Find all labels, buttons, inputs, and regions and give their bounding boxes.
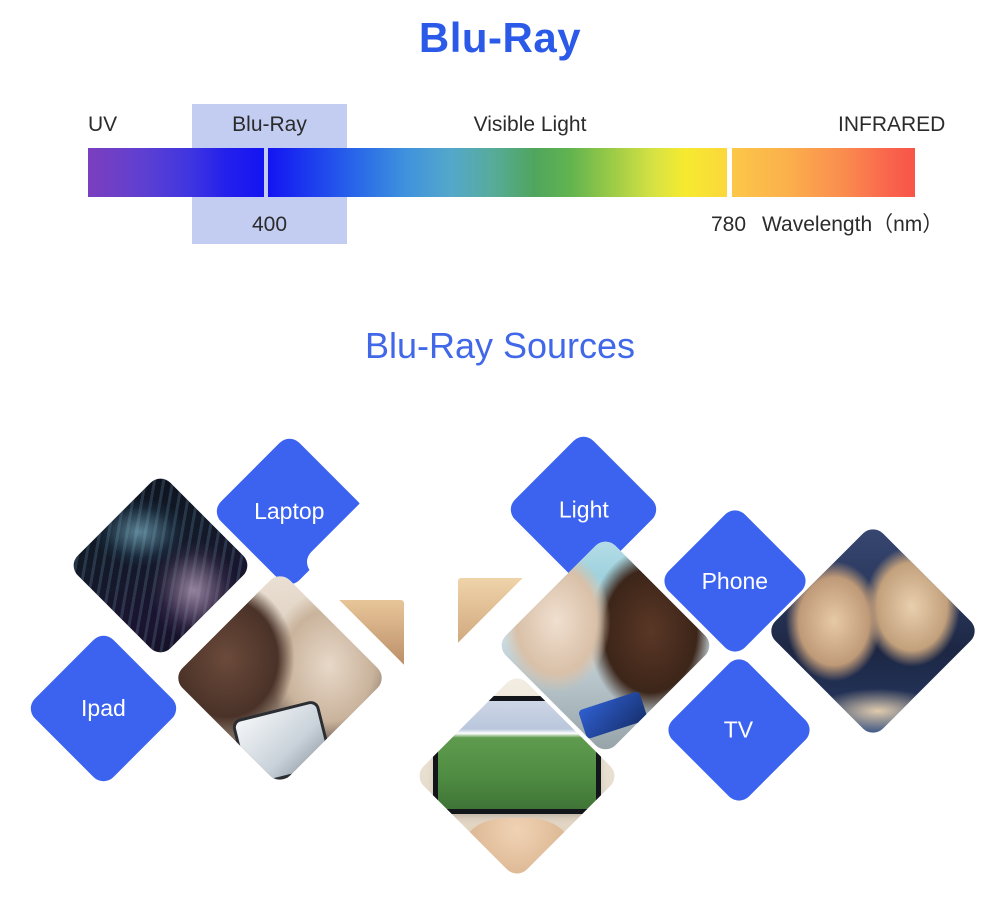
diamond-label-phone-text: Phone — [702, 569, 769, 592]
diamond-label-ipad-text: Ipad — [81, 697, 126, 720]
bluray-sources-diamond-grid: Laptop Ipad Light Phone TV — [0, 0, 1000, 911]
infographic-page: Blu-Ray UV Blu-Ray Visible Light INFRARE… — [0, 0, 1000, 911]
diamond-photo-two-boys-tablet — [766, 524, 981, 739]
diamond-label-light-text: Light — [559, 498, 609, 521]
diamond-label-tv[interactable]: TV — [663, 654, 816, 807]
diamond-label-laptop-text: Laptop — [254, 500, 324, 523]
diamond-label-tv-text: TV — [724, 718, 753, 741]
